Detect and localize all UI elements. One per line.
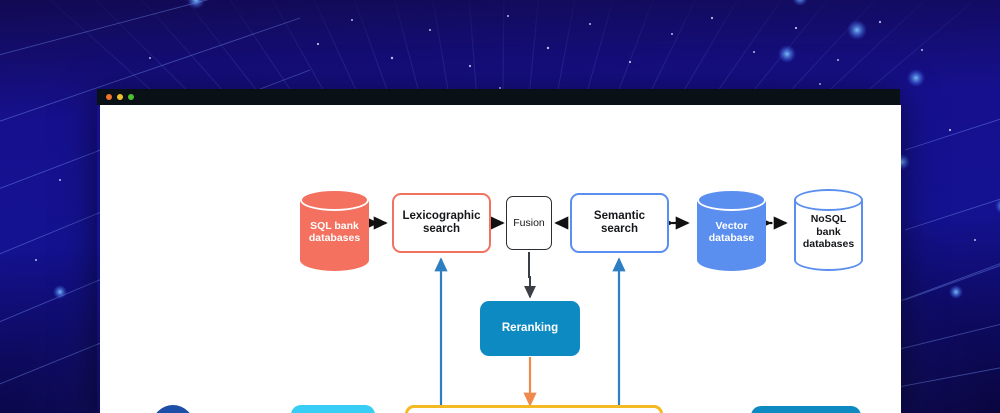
fusion-label: Fusion (513, 217, 545, 229)
semantic-label-line2: search (601, 223, 638, 235)
bottom-yellow-node[interactable] (405, 405, 663, 413)
bottom-cyan-node[interactable] (291, 405, 375, 413)
vector-database-cylinder[interactable]: Vector database (697, 189, 766, 271)
lexicographic-label-line2: search (423, 223, 460, 235)
sql-bank-databases-cylinder[interactable]: SQL bank databases (300, 189, 369, 271)
reranking-box[interactable]: Reranking (480, 301, 580, 356)
nosql-label-line1: NoSQL (811, 213, 847, 225)
vector-label-line2: database (709, 232, 755, 244)
nosql-bank-databases-cylinder[interactable]: NoSQL bank databases (794, 189, 863, 271)
bottom-blue-node[interactable] (751, 406, 861, 413)
window-titlebar (97, 89, 900, 105)
browser-window: SQL bank databases Lexicographic search … (97, 89, 900, 413)
lexicographic-search-box[interactable]: Lexicographic search (392, 193, 491, 253)
vector-label-line1: Vector (715, 220, 747, 232)
semantic-label-line1: Semantic (594, 210, 645, 222)
nosql-label-line2: bank (816, 226, 841, 238)
fusion-box[interactable]: Fusion (506, 196, 552, 250)
close-icon[interactable] (106, 94, 112, 100)
sql-label-line1: SQL bank (310, 220, 359, 232)
diagram-canvas: SQL bank databases Lexicographic search … (100, 105, 901, 413)
semantic-search-box[interactable]: Semantic search (570, 193, 669, 253)
nosql-label-line3: databases (803, 238, 854, 250)
sql-label-line2: databases (309, 232, 360, 244)
cylinder-top (697, 189, 766, 211)
reranking-label: Reranking (502, 322, 558, 335)
maximize-icon[interactable] (128, 94, 134, 100)
sql-bank-databases-label: SQL bank databases (300, 211, 369, 253)
diagram-connectors (100, 105, 901, 413)
lexicographic-label-line1: Lexicographic (403, 210, 481, 222)
vector-database-label: Vector database (697, 211, 766, 253)
minimize-icon[interactable] (117, 94, 123, 100)
nosql-bank-databases-label: NoSQL bank databases (794, 209, 863, 255)
cylinder-top (794, 189, 863, 211)
cylinder-top (300, 189, 369, 211)
